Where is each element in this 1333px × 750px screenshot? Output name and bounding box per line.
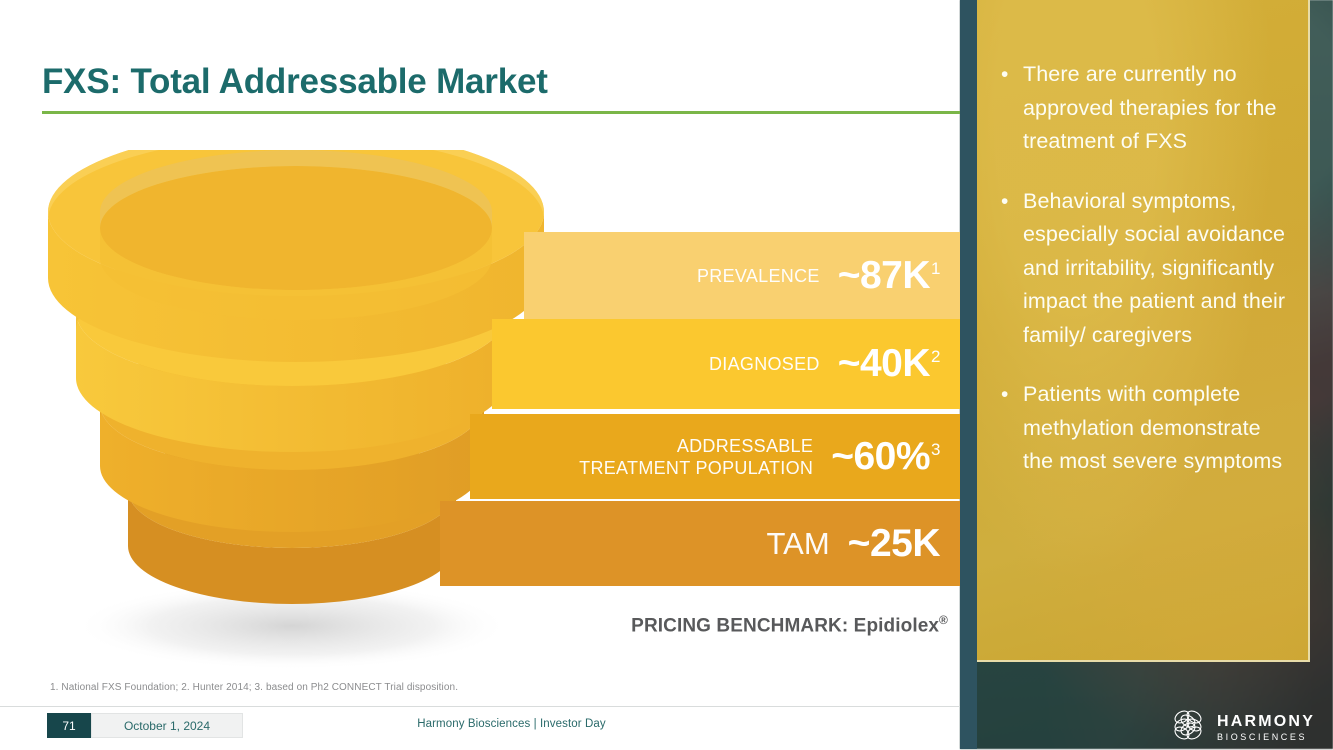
bullet-text: Behavioral symptoms, especially social a… <box>1023 185 1286 353</box>
stage-label: DIAGNOSED <box>709 353 820 375</box>
harmony-logo: HARMONY BIOSCIENCES <box>1168 705 1315 750</box>
stage-footnote-ref: 2 <box>931 347 940 366</box>
teal-accent-band <box>960 0 977 749</box>
bullet-icon: • <box>1001 185 1023 353</box>
footnote: 1. National FXS Foundation; 2. Hunter 20… <box>50 682 458 693</box>
list-item: • There are currently no approved therap… <box>1001 58 1286 159</box>
funnel-stage-prevalence: PREVALENCE ~87K1 <box>524 232 960 319</box>
funnel-stage-tam: TAM ~25K <box>440 501 960 586</box>
bullet-icon: • <box>1001 58 1023 159</box>
stage-value: ~60%3 <box>831 435 940 479</box>
stage-label: PREVALENCE <box>697 265 820 287</box>
footer-caption: Harmony Biosciences | Investor Day <box>0 718 1178 730</box>
bullet-icon: • <box>1001 378 1023 479</box>
stage-value-text: ~25K <box>848 522 940 565</box>
stage-label: TAM <box>767 533 830 555</box>
bullet-text: Patients with complete methylation demon… <box>1023 378 1286 479</box>
logo-wordmark: HARMONY BIOSCIENCES <box>1217 714 1315 742</box>
stage-footnote-ref: 3 <box>931 440 940 459</box>
stage-value: ~40K2 <box>838 342 940 386</box>
stage-value-text: ~40K <box>838 342 930 385</box>
list-item: • Behavioral symptoms, especially social… <box>1001 185 1286 353</box>
stage-label-line1: ADDRESSABLE <box>579 435 813 457</box>
pricing-benchmark: PRICING BENCHMARK: Epidiolex® <box>0 613 948 637</box>
stage-footnote-ref: 1 <box>931 259 940 278</box>
logo-company-name: HARMONY <box>1217 714 1315 730</box>
registered-mark: ® <box>939 613 948 627</box>
list-item: • Patients with complete methylation dem… <box>1001 378 1286 479</box>
footer-divider <box>0 706 960 707</box>
logo-tagline: BIOSCIENCES <box>1217 733 1315 742</box>
stage-label-line2: TREATMENT POPULATION <box>579 457 813 479</box>
funnel-stage-addressable: ADDRESSABLE TREATMENT POPULATION ~60%3 <box>470 414 960 499</box>
harmony-knot-icon <box>1168 705 1208 750</box>
stage-value: ~25K <box>848 522 940 566</box>
pricing-benchmark-text: PRICING BENCHMARK: Epidiolex <box>631 615 939 636</box>
stage-label: ADDRESSABLE TREATMENT POPULATION <box>579 435 813 479</box>
stage-value-text: ~60% <box>831 435 930 478</box>
stage-value: ~87K1 <box>838 254 940 298</box>
funnel-stage-diagnosed: DIAGNOSED ~40K2 <box>492 319 960 409</box>
bullet-text: There are currently no approved therapie… <box>1023 58 1286 159</box>
insights-panel: • There are currently no approved therap… <box>977 0 1310 662</box>
stage-value-text: ~87K <box>838 254 930 297</box>
